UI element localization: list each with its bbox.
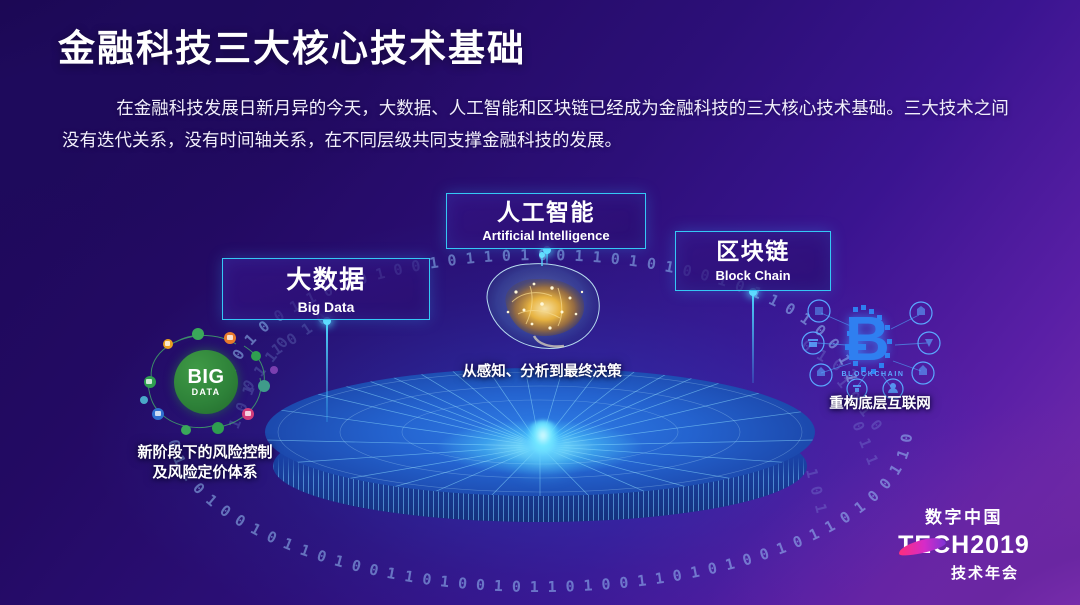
big-data-badge-secondary: DATA bbox=[192, 387, 221, 397]
bitcoin-b-symbol: Ƀ bbox=[845, 309, 895, 371]
svg-text:0 1 1: 0 1 1 bbox=[848, 419, 882, 468]
page-title: 金融科技三大核心技术基础 bbox=[58, 18, 526, 72]
pillar-title-cn-big-data: 大数据 bbox=[223, 268, 429, 293]
brain-graphic bbox=[472, 252, 612, 360]
slide-canvas: 1 0 1 0 0 1 1 0 1 0 1 0 0 1 0 1 1 0 1 0 … bbox=[0, 0, 1080, 605]
blockchain-wordmark: BLOCKCHAIN bbox=[833, 371, 913, 378]
pillar-title-cn-blockchain: 区块链 bbox=[676, 240, 830, 263]
event-logo: 数字中国 TECH2019 技术年会 bbox=[884, 503, 1044, 583]
pillar-card-block-chain[interactable]: 区块链 Block Chain bbox=[675, 231, 831, 291]
caption-ai-line1: 从感知、分析到最终决策 bbox=[432, 363, 652, 383]
caption-blockchain-line1: 重构底层互联网 bbox=[790, 395, 970, 415]
logo-line-2: TECH2019 bbox=[884, 531, 1044, 560]
big-data-badge: BIG DATA bbox=[174, 350, 238, 414]
brain-illustration bbox=[472, 252, 612, 360]
central-platform-disc bbox=[265, 368, 815, 543]
pillar-title-en-big-data: Big Data bbox=[223, 300, 429, 314]
pillar-title-en-blockchain: Block Chain bbox=[676, 269, 830, 282]
caption-artificial-intelligence: 从感知、分析到最终决策 bbox=[432, 363, 652, 383]
caption-big-data-line1: 新阶段下的风险控制 bbox=[100, 443, 310, 463]
pillar-card-artificial-intelligence[interactable]: 人工智能 Artificial Intelligence bbox=[446, 193, 646, 249]
logo-line-1: 数字中国 bbox=[884, 503, 1044, 528]
logo-line-3: 技术年会 bbox=[884, 562, 1044, 583]
blockchain-connector-line bbox=[752, 291, 754, 383]
disc-surface bbox=[265, 368, 815, 496]
caption-big-data: 新阶段下的风险控制 及风险定价体系 bbox=[100, 443, 310, 484]
caption-block-chain: 重构底层互联网 bbox=[790, 395, 970, 415]
big-data-badge-primary: BIG bbox=[187, 368, 224, 387]
pillar-card-big-data[interactable]: 大数据 Big Data bbox=[222, 258, 430, 320]
big-data-connector-line bbox=[326, 320, 328, 422]
pillar-title-cn-ai: 人工智能 bbox=[447, 201, 645, 224]
big-data-icon-cluster: BIG DATA bbox=[132, 322, 282, 442]
blockchain-icon-cluster: Ƀ BLOCKCHAIN bbox=[795, 295, 945, 400]
caption-big-data-line2: 及风险定价体系 bbox=[100, 463, 310, 483]
intro-paragraph: 在金融科技发展日新月异的今天，大数据、人工智能和区块链已经成为金融科技的三大核心… bbox=[62, 92, 1022, 157]
pillar-title-en-ai: Artificial Intelligence bbox=[447, 229, 645, 242]
